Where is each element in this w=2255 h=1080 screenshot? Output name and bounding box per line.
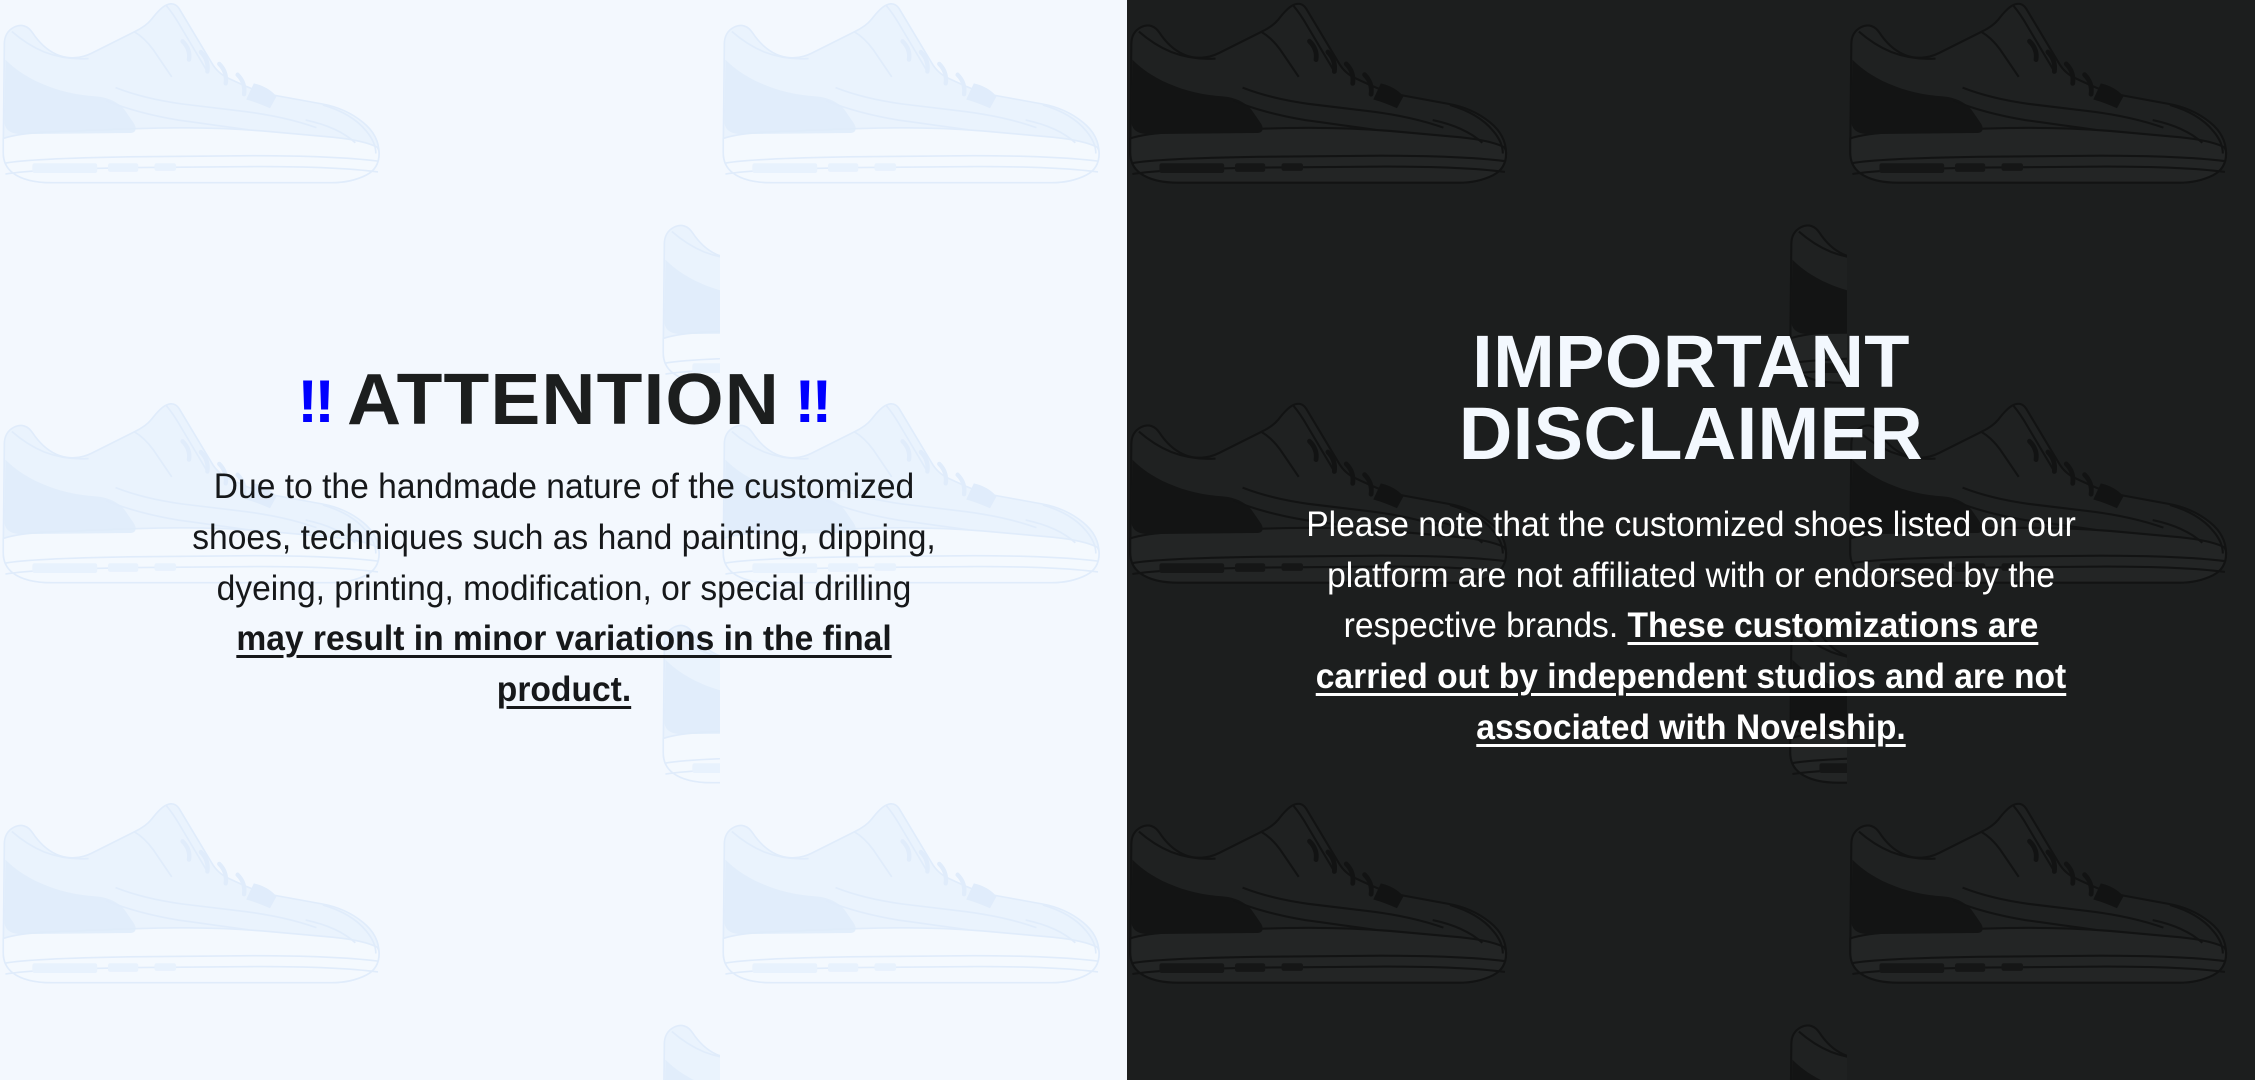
attention-content: ‼ATTENTION‼ Due to the handmade nature o…: [0, 364, 1127, 716]
disclaimer-body: Please note that the customized shoes li…: [1302, 500, 2080, 754]
disclaimer-banner: ‼ATTENTION‼ Due to the handmade nature o…: [0, 0, 2255, 1080]
disclaimer-headline-line2: DISCLAIMER: [1151, 398, 2231, 470]
double-exclamation-right-icon: ‼: [795, 368, 830, 435]
attention-headline-word: ATTENTION: [332, 360, 794, 440]
disclaimer-headline: IMPORTANTDISCLAIMER: [1151, 326, 2231, 470]
attention-panel: ‼ATTENTION‼ Due to the handmade nature o…: [0, 0, 1127, 1080]
attention-body: Due to the handmade nature of the custom…: [180, 462, 948, 716]
disclaimer-content: IMPORTANTDISCLAIMER Please note that the…: [1127, 326, 2255, 753]
attention-body-emphasis: may result in minor variations in the fi…: [236, 619, 891, 709]
attention-headline: ‼ATTENTION‼: [2, 364, 1124, 436]
disclaimer-panel: IMPORTANTDISCLAIMER Please note that the…: [1127, 0, 2255, 1080]
double-exclamation-left-icon: ‼: [297, 368, 332, 435]
disclaimer-headline-line1: IMPORTANT: [1151, 326, 2231, 398]
attention-body-normal: Due to the handmade nature of the custom…: [192, 467, 935, 608]
